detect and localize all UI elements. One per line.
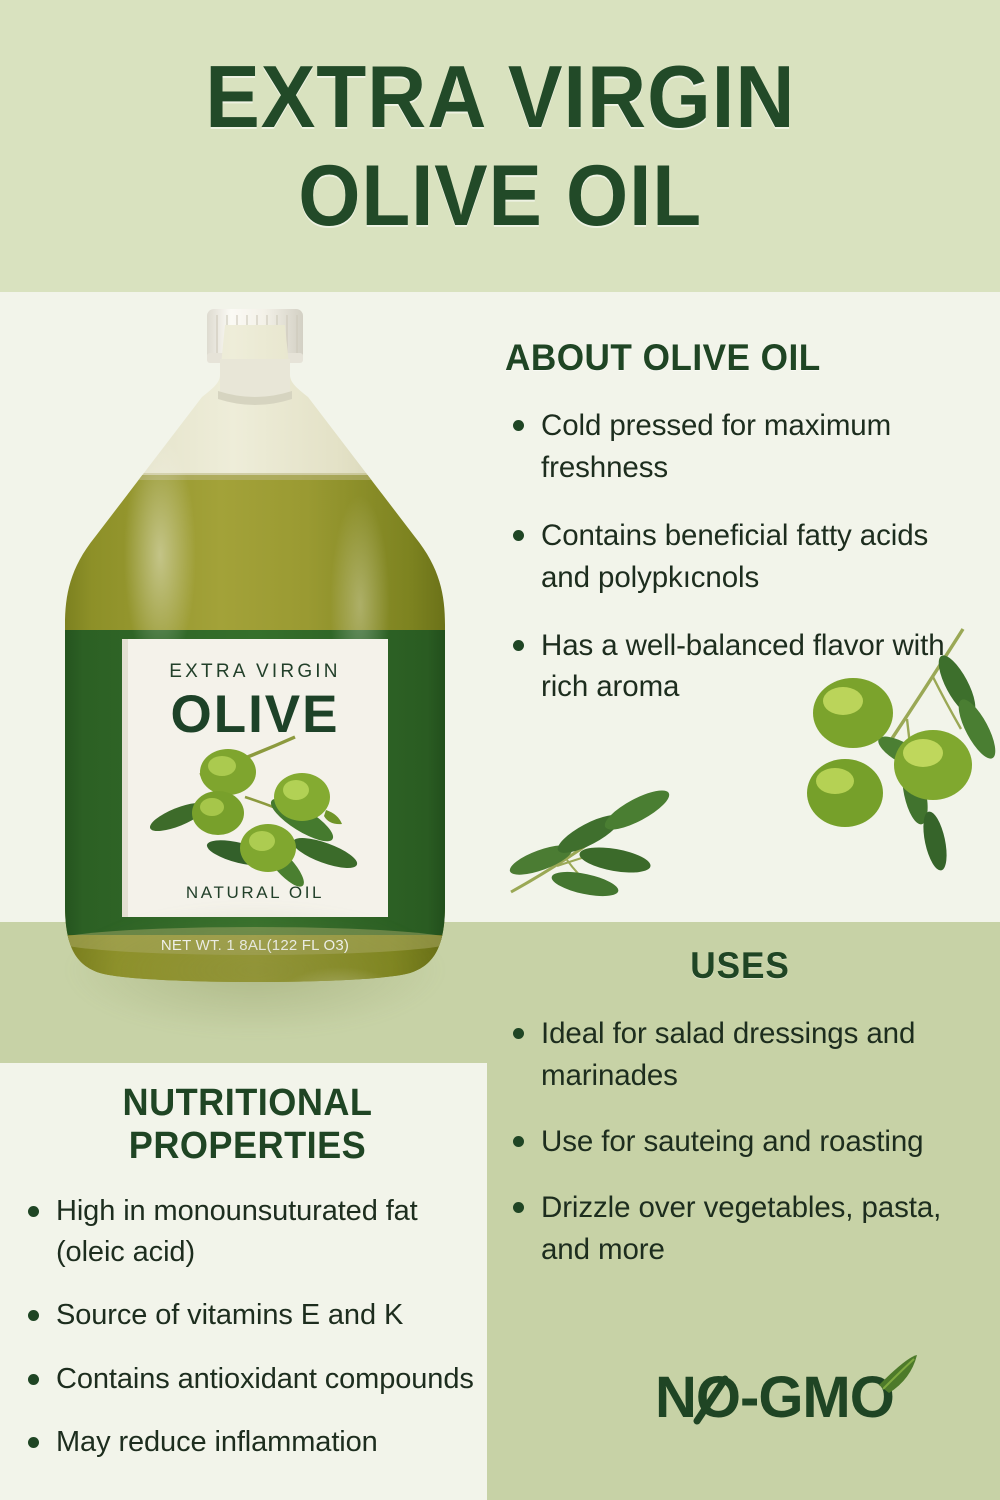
list-item: Cold pressed for maximum freshness	[505, 405, 975, 489]
nutrition-heading-line-1: NUTRITIONAL	[31, 1082, 463, 1125]
list-item: May reduce inflammation	[20, 1422, 475, 1463]
olive-fruit-branch-decoration	[785, 625, 1000, 900]
list-item: Contains antioxidant compounds	[20, 1359, 475, 1400]
nutrition-heading-line-2: PROPERTIES	[31, 1125, 463, 1168]
no-gmo-badge: NO-GMO	[655, 1355, 920, 1450]
uses-section: USES Ideal for salad dressings and marin…	[505, 945, 975, 1294]
bottle-shadow	[65, 905, 445, 1035]
list-item: Contains beneficial fatty acids and poly…	[505, 515, 975, 599]
uses-bullet-list: Ideal for salad dressings and marinades …	[505, 1013, 975, 1270]
header-banner: EXTRA VIRGIN OLIVE OIL	[0, 0, 1000, 292]
list-item: Ideal for salad dressings and marinades	[505, 1013, 975, 1097]
list-item: Source of vitamins E and K	[20, 1295, 475, 1336]
nutrition-bullet-list: High in monounsuturated fat (oleic acid)…	[20, 1191, 475, 1463]
list-item: Use for sauteing and roasting	[505, 1121, 975, 1163]
uses-heading: USES	[517, 945, 964, 987]
nutrition-heading: NUTRITIONAL PROPERTIES	[31, 1082, 463, 1167]
olive-oil-bottle-image: EXTRA VIRGIN OLIVE	[40, 305, 470, 1045]
list-item: High in monounsuturated fat (oleic acid)	[20, 1191, 475, 1273]
nutritional-properties-section: NUTRITIONAL PROPERTIES High in monounsut…	[20, 1082, 475, 1485]
olive-leaf-branch-decoration	[505, 742, 705, 902]
label-brand-text: OLIVE	[170, 685, 339, 744]
no-gmo-text: NO-GMO	[655, 1365, 894, 1430]
label-subtitle-text: NATURAL OIL	[186, 883, 324, 902]
list-item: Drizzle over vegetables, pasta, and more	[505, 1187, 975, 1271]
label-eyebrow-text: EXTRA VIRGIN	[169, 661, 340, 682]
page-title-line-2: OLIVE OIL	[298, 154, 702, 238]
about-heading: ABOUT OLIVE OIL	[505, 337, 952, 379]
bottle-label: EXTRA VIRGIN OLIVE	[122, 639, 388, 917]
page-title-line-1: EXTRA VIRGIN	[205, 54, 795, 140]
